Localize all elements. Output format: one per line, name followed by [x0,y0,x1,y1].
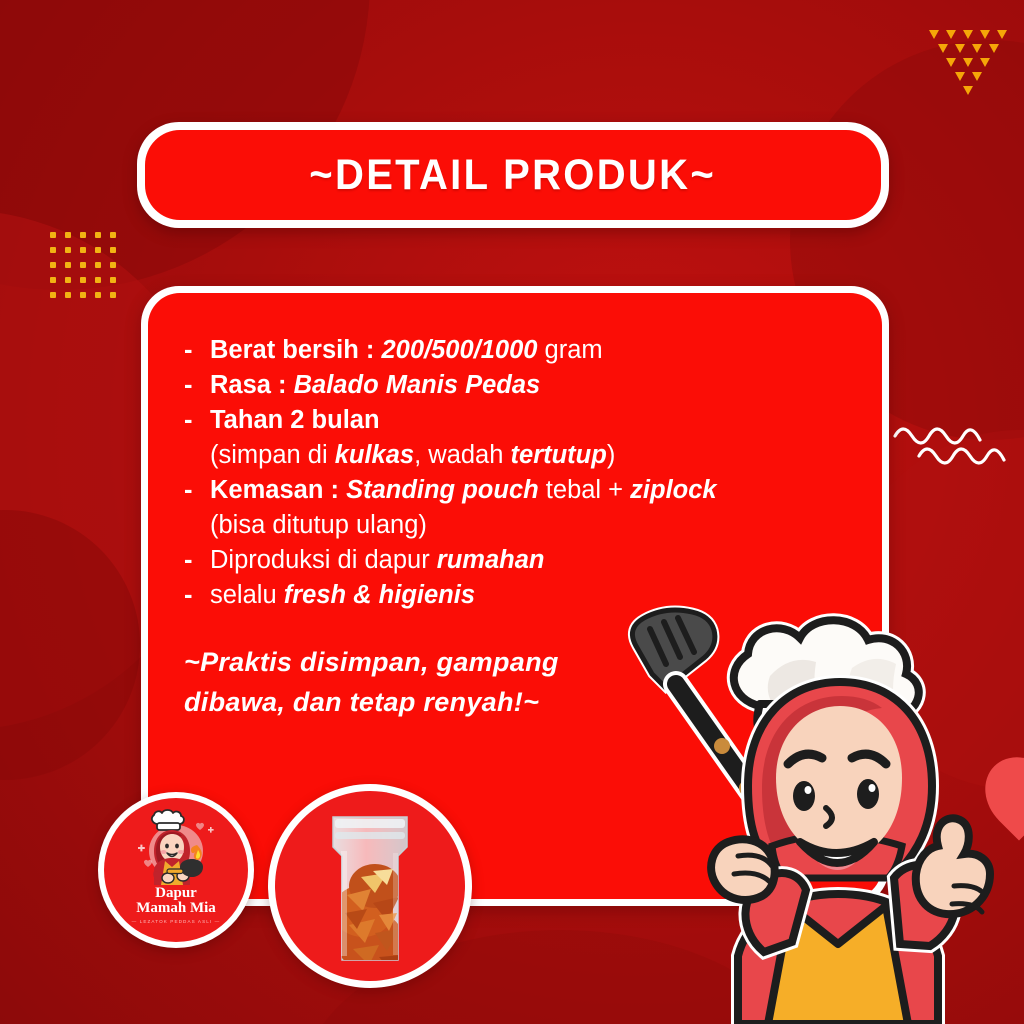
logo-tagline: — LEZATOK PEDDAS ASLI — [132,919,221,924]
brand-logo-badge: Dapur Mamah Mia — LEZATOK PEDDAS ASLI — [98,792,254,948]
spatula-icon [632,610,755,796]
spec-part: Kemasan : [210,476,346,504]
spec-part: tertutup [511,441,607,469]
spec-row: -Berat bersih : 200/500/1000 gram [184,333,862,368]
spec-row: (simpan di kulkas, wadah tertutup) [184,438,862,473]
spec-row: -Tahan 2 bulan [184,403,862,438]
spec-part: selalu [210,581,284,609]
chef-woman-logo-icon [124,807,228,885]
bullet-dash: - [184,403,210,438]
header-banner: ~DETAIL PRODUK~ [137,122,889,228]
page-title: ~DETAIL PRODUK~ [310,151,717,200]
spec-text: Kemasan : Standing pouch tebal + ziplock [210,473,717,508]
spec-part: Standing pouch [346,476,539,504]
spec-text: selalu fresh & higienis [210,578,475,613]
logo-name-line-1: Dapur [155,885,197,901]
spec-row: -Kemasan : Standing pouch tebal + ziploc… [184,473,862,508]
spec-part: ziplock [630,476,716,504]
chef-mascot-illustration [612,556,1024,1024]
wave-lines-decor [893,418,1021,480]
spec-part: (bisa ditutup ulang) [210,511,427,539]
spec-part: , wadah [414,441,510,469]
spec-part: gram [537,336,602,364]
spec-part: (simpan di [210,441,335,469]
tagline-line-2: dibawa, dan tetap renyah!~ [184,682,559,722]
product-photo-disc [275,791,465,981]
spec-part: ) [607,441,616,469]
header-banner-fill: ~DETAIL PRODUK~ [145,130,881,220]
standing-pouch-photo-icon [275,791,465,981]
spec-part: fresh & higienis [284,581,475,609]
bullet-dash: - [184,578,210,613]
logo-name-line-2: Mamah Mia [136,900,216,916]
spec-row: (bisa ditutup ulang) [184,508,862,543]
spec-part: 200/500/1000 [381,336,537,364]
spec-text: Rasa : Balado Manis Pedas [210,368,540,403]
spec-text: Berat bersih : 200/500/1000 gram [210,333,603,368]
tagline-line-1: ~Praktis disimpan, gampang [184,642,559,682]
spec-part: Diproduksi di dapur [210,546,437,574]
tagline-text: ~Praktis disimpan, gampang dibawa, dan t… [184,642,559,722]
spec-text: Diproduksi di dapur rumahan [210,543,545,578]
bullet-dash: - [184,333,210,368]
product-photo-badge [268,784,472,988]
spec-row: -Rasa : Balado Manis Pedas [184,368,862,403]
triangle-pattern-decor [928,30,1008,100]
spec-part: Berat bersih : [210,336,381,364]
spec-part: Rasa : [210,371,294,399]
dot-grid-decor [50,232,116,298]
spec-part: Balado Manis Pedas [294,371,541,399]
brand-logo-disc: Dapur Mamah Mia — LEZATOK PEDDAS ASLI — [104,798,248,942]
spec-part: Tahan 2 bulan [210,406,380,434]
spec-text: (bisa ditutup ulang) [210,508,427,543]
bullet-dash: - [184,368,210,403]
spec-part: tebal + [539,476,630,504]
spec-part: kulkas [335,441,414,469]
logo-name: Dapur Mamah Mia [136,886,216,916]
bullet-dash: - [184,473,210,508]
spec-text: Tahan 2 bulan [210,403,380,438]
spec-text: (simpan di kulkas, wadah tertutup) [210,438,615,473]
bullet-dash: - [184,543,210,578]
spec-part: rumahan [437,546,545,574]
